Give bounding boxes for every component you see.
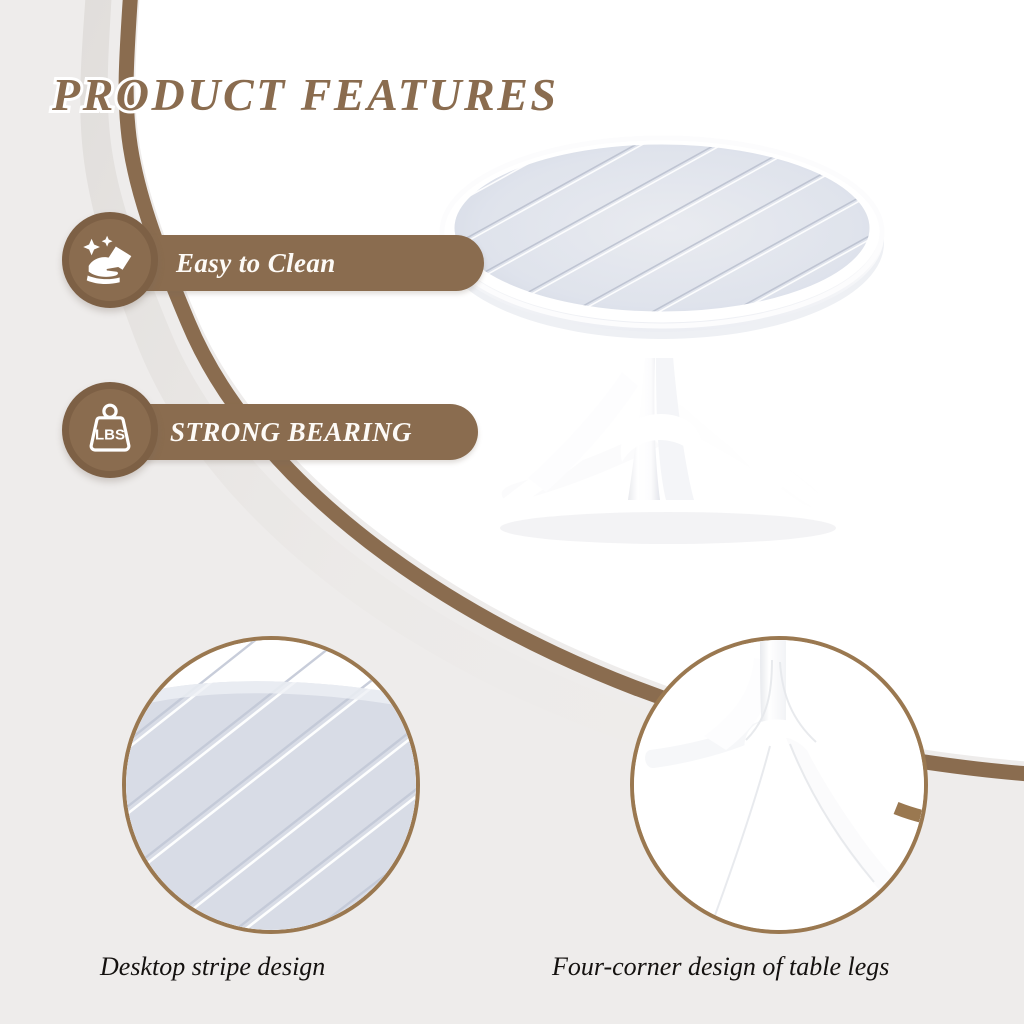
detail-caption-table-legs: Four-corner design of table legs: [552, 952, 889, 982]
sparkle-wipe-icon: [62, 212, 158, 308]
feature-label: Easy to Clean: [176, 248, 336, 279]
feature-pill-easy-to-clean[interactable]: Easy to Clean: [104, 235, 484, 291]
detail-circle-stripe-design[interactable]: [122, 636, 420, 934]
weight-icon-text: LBS: [95, 426, 125, 443]
tabletop-stripe-closeup: [126, 640, 416, 930]
feature-label: STRONG BEARING: [170, 417, 412, 448]
detail-caption-stripe-design: Desktop stripe design: [100, 952, 325, 982]
detail-circle-table-legs[interactable]: [630, 636, 928, 934]
table-legs-closeup: [634, 640, 924, 930]
feature-pill-strong-bearing[interactable]: STRONG BEARING: [104, 404, 478, 460]
product-features-infographic: PRODUCT FEATURES Easy to Clean STRONG BE…: [0, 0, 1024, 1024]
weight-lbs-icon: LBS: [62, 382, 158, 478]
page-title: PRODUCT FEATURES: [52, 68, 559, 121]
